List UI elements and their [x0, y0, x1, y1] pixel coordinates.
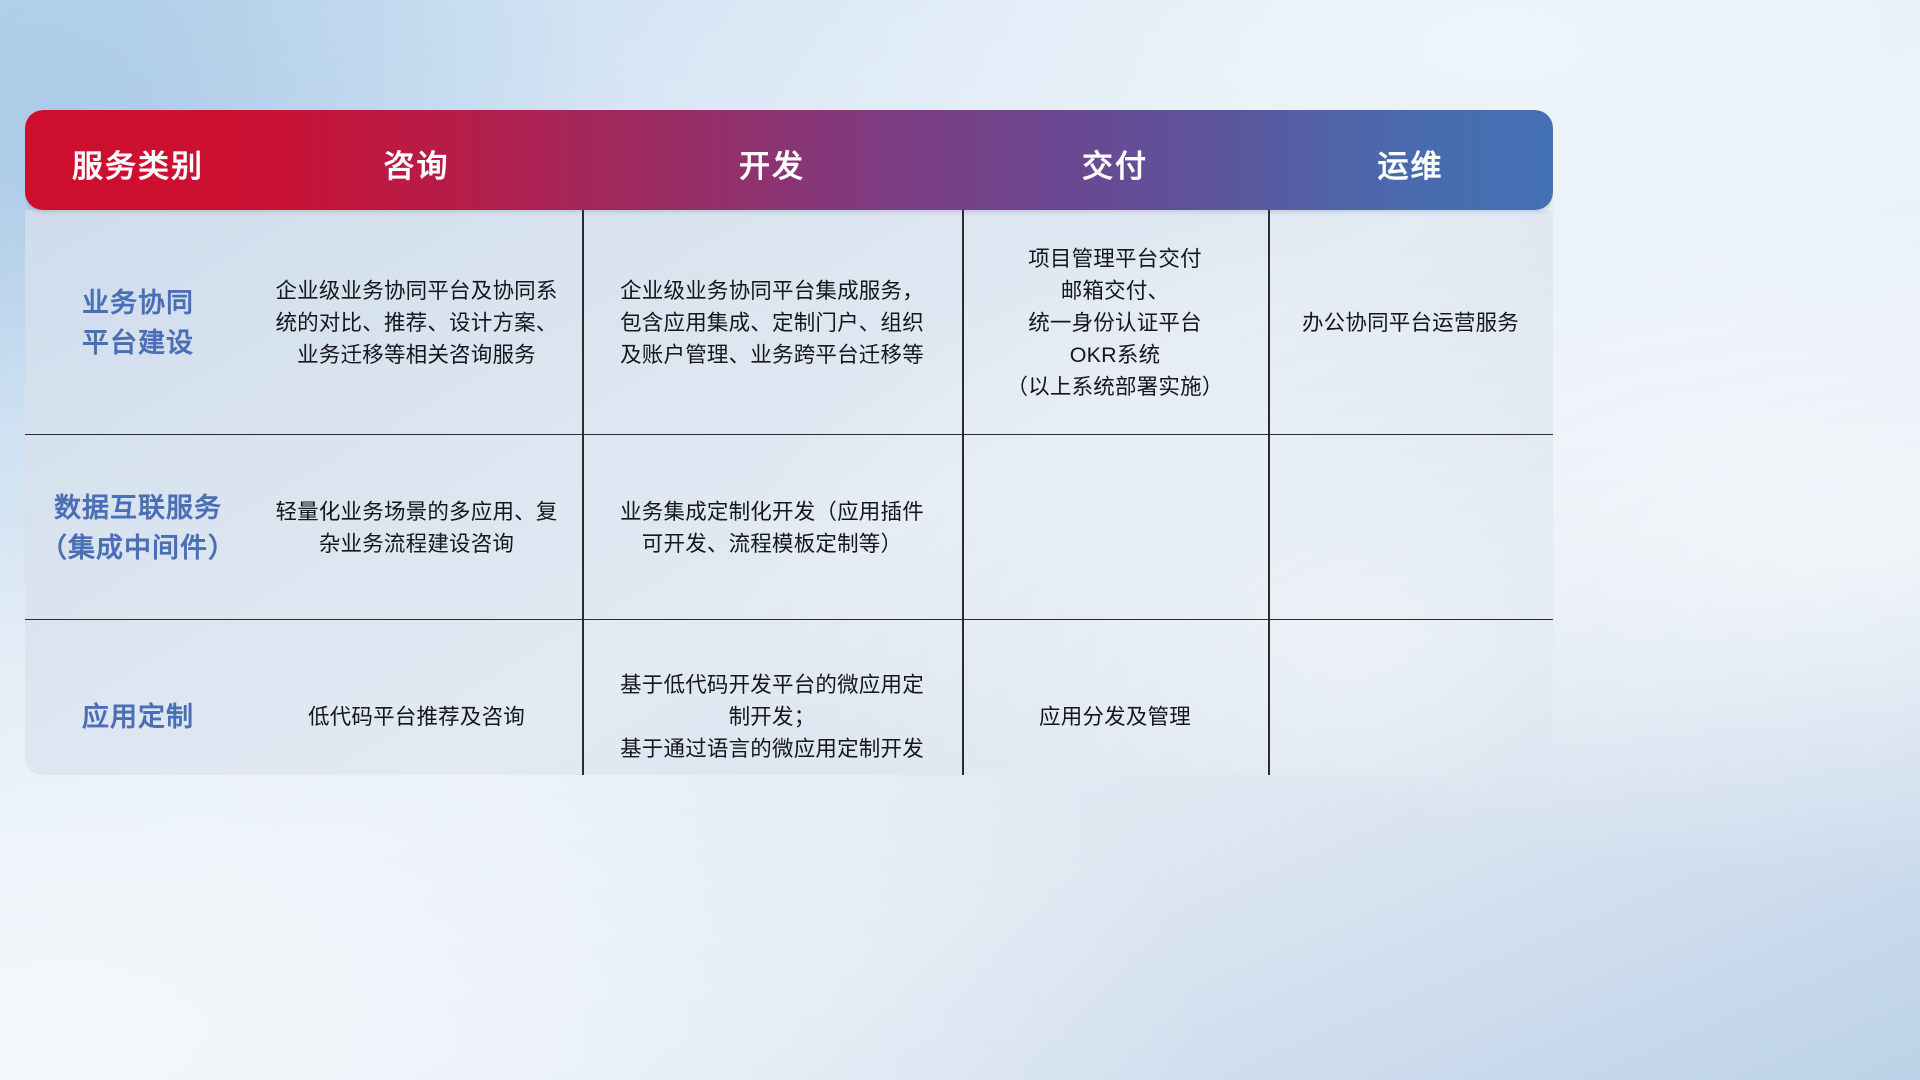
column-header-operations[interactable]: 运维: [1268, 110, 1553, 210]
table-row: 业务协同 平台建设 企业级业务协同平台及协同系 统的对比、推荐、设计方案、 业务…: [25, 210, 1553, 435]
row-label-cell[interactable]: 业务协同 平台建设: [25, 210, 251, 435]
cell-consulting[interactable]: 企业级业务协同平台及协同系 统的对比、推荐、设计方案、 业务迁移等相关咨询服务: [251, 210, 582, 435]
grid-line-vertical-3: [962, 210, 964, 775]
table-row: 应用定制 低代码平台推荐及咨询 基于低代码开发平台的微应用定 制开发； 基于通过…: [25, 620, 1553, 775]
cell-development[interactable]: 业务集成定制化开发（应用插件 可开发、流程模板定制等）: [582, 435, 962, 620]
cell-delivery[interactable]: [962, 435, 1268, 620]
table-header-row: 服务类别 咨询 开发 交付 运维: [25, 110, 1553, 210]
grid-line-vertical-2: [582, 210, 584, 775]
grid-line-vertical-4: [1268, 210, 1270, 775]
cell-text: 业务集成定制化开发（应用插件 可开发、流程模板定制等）: [620, 496, 924, 560]
cell-development[interactable]: 基于低代码开发平台的微应用定 制开发； 基于通过语言的微应用定制开发: [582, 620, 962, 775]
table-body: 业务协同 平台建设 企业级业务协同平台及协同系 统的对比、推荐、设计方案、 业务…: [25, 210, 1553, 775]
cell-consulting[interactable]: 轻量化业务场景的多应用、复 杂业务流程建设咨询: [251, 435, 582, 620]
cell-text: 轻量化业务场景的多应用、复 杂业务流程建设咨询: [275, 496, 557, 560]
cell-delivery[interactable]: 项目管理平台交付 邮箱交付、 统一身份认证平台 OKR系统 （以上系统部署实施）: [962, 210, 1268, 435]
cell-text: 企业级业务协同平台集成服务， 包含应用集成、定制门户、组织 及账户管理、业务跨平…: [620, 275, 924, 371]
cell-text: 应用分发及管理: [1039, 701, 1191, 733]
column-header-delivery[interactable]: 交付: [962, 110, 1268, 210]
cell-development[interactable]: 企业级业务协同平台集成服务， 包含应用集成、定制门户、组织 及账户管理、业务跨平…: [582, 210, 962, 435]
service-matrix-table: 服务类别 咨询 开发 交付 运维 业务协同 平台建设 企业级业务协同平台及协同系…: [25, 110, 1553, 775]
cell-operations[interactable]: [1268, 620, 1553, 775]
cell-text: 基于低代码开发平台的微应用定 制开发； 基于通过语言的微应用定制开发: [620, 669, 924, 765]
table-row: 数据互联服务 （集成中间件） 轻量化业务场景的多应用、复 杂业务流程建设咨询 业…: [25, 435, 1553, 620]
column-header-consulting[interactable]: 咨询: [251, 110, 582, 210]
cell-text: 项目管理平台交付 邮箱交付、 统一身份认证平台 OKR系统 （以上系统部署实施）: [1006, 243, 1223, 403]
cell-delivery[interactable]: 应用分发及管理: [962, 620, 1268, 775]
row-label-text: 业务协同 平台建设: [82, 283, 194, 363]
column-header-category[interactable]: 服务类别: [25, 110, 251, 210]
cell-operations[interactable]: 办公协同平台运营服务: [1268, 210, 1553, 435]
table: 服务类别 咨询 开发 交付 运维 业务协同 平台建设 企业级业务协同平台及协同系…: [25, 110, 1553, 775]
cell-text: 办公协同平台运营服务: [1302, 307, 1519, 339]
row-label-text: 应用定制: [82, 697, 194, 737]
cell-consulting[interactable]: 低代码平台推荐及咨询: [251, 620, 582, 775]
cell-operations[interactable]: [1268, 435, 1553, 620]
row-label-cell[interactable]: 应用定制: [25, 620, 251, 775]
cell-text: 低代码平台推荐及咨询: [308, 701, 525, 733]
row-label-text: 数据互联服务 （集成中间件）: [40, 488, 236, 568]
column-header-development[interactable]: 开发: [582, 110, 962, 210]
row-label-cell[interactable]: 数据互联服务 （集成中间件）: [25, 435, 251, 620]
cell-text: 企业级业务协同平台及协同系 统的对比、推荐、设计方案、 业务迁移等相关咨询服务: [275, 275, 557, 371]
